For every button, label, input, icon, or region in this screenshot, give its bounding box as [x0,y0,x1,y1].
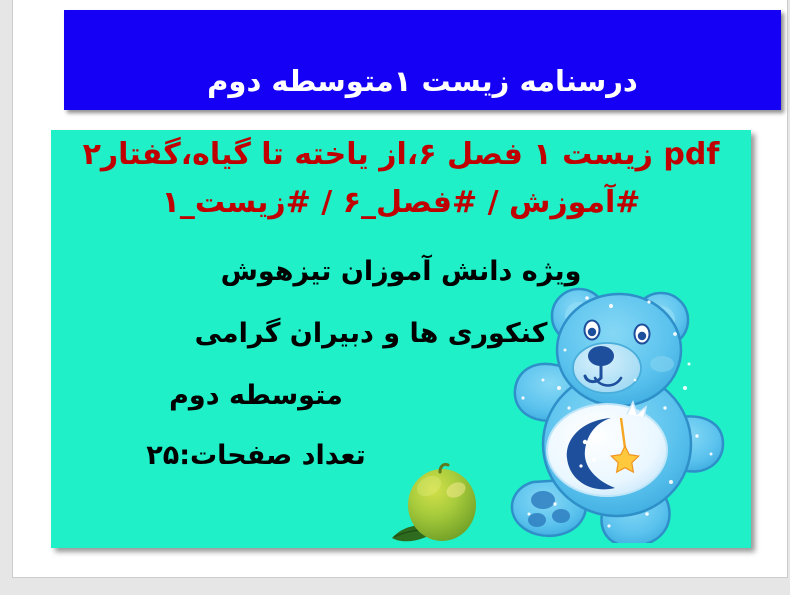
pdf-title-line: pdf زیست ۱ فصل ۶،از یاخته تا گیاه،گفتار۲ [56,140,746,170]
education-level-line: متوسطه دوم [91,382,421,409]
document-page: درسنامه زیست ۱متوسطه دوم pdf زیست ۱ فصل … [12,0,788,578]
slide-canvas: درسنامه زیست ۱متوسطه دوم pdf زیست ۱ فصل … [0,0,790,595]
hashtags-line: #آموزش / #فصل_۶ / #زیست_۱ [56,188,746,218]
page-count-line: تعداد صفحات:۲۵ [91,442,421,469]
apple-icon [384,460,494,548]
page-title: درسنامه زیست ۱متوسطه دوم [207,64,638,110]
title-banner: درسنامه زیست ۱متوسطه دوم [64,10,781,110]
bear-icon [499,268,749,543]
page-left-gutter [0,0,11,580]
content-card: pdf زیست ۱ فصل ۶،از یاخته تا گیاه،گفتار۲… [51,130,751,548]
